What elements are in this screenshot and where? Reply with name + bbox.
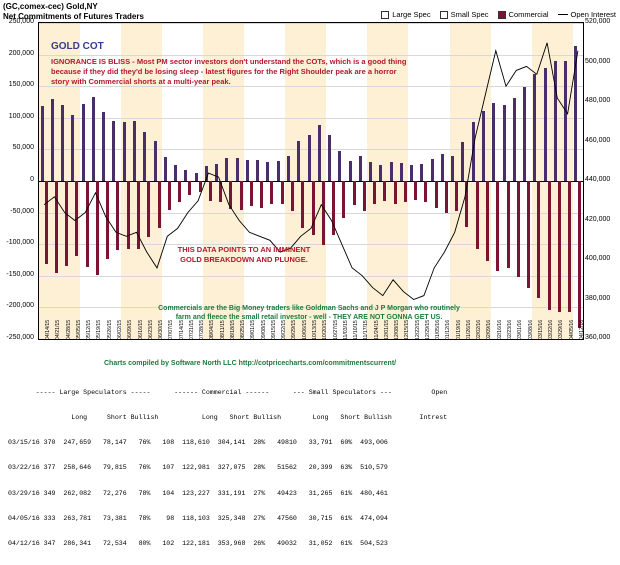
chart-plot-area: GOLD COT IGNORANCE IS BLISS - Most PM se…: [38, 22, 584, 340]
y2-tick-label: 380,000: [585, 295, 620, 302]
x-tick-label: 01/26/16: [466, 320, 472, 340]
y2-tick-label: 460,000: [585, 137, 620, 144]
y2-tick-label: 360,000: [585, 334, 620, 341]
x-tick-label: 06/02/15: [117, 320, 123, 340]
y-tick-label: -50,000: [0, 208, 34, 215]
table-group-header: ----- Large Speculators ----- ------ Com…: [8, 389, 447, 397]
legend-item-large-spec: Large Spec: [381, 10, 430, 19]
x-tick-label: 06/30/15: [158, 320, 164, 340]
legend-label-large-spec: Large Spec: [392, 10, 430, 19]
x-tick-label: 12/22/15: [415, 320, 421, 340]
x-tick-label: 01/12/16: [445, 320, 451, 340]
x-tick-label: 08/18/15: [230, 320, 236, 340]
table-row: 03/22/16 377 258,646 79,815 76% 107 122,…: [8, 464, 447, 472]
x-tick-label: 02/16/16: [497, 320, 503, 340]
x-tick-label: 03/29/16: [558, 320, 564, 340]
legend-swatch-small-spec: [440, 11, 448, 19]
x-tick-label: 10/20/15: [322, 320, 328, 340]
x-tick-label: 06/09/15: [127, 320, 133, 340]
x-tick-label: 12/08/15: [394, 320, 400, 340]
x-tick-label: 07/21/15: [189, 320, 195, 340]
legend-swatch-commercial: [498, 11, 506, 19]
y-tick-label: 200,000: [0, 50, 34, 57]
y-tick-label: 150,000: [0, 81, 34, 88]
x-tick-label: 07/07/15: [168, 320, 174, 340]
chart-page: (GC,comex-cec) Gold,NY Net Commitments o…: [0, 0, 620, 441]
x-tick-label: 05/05/15: [76, 320, 82, 340]
y-tick-label: 0: [0, 176, 34, 183]
annotation-ignorance-is-bliss: IGNORANCE IS BLISS - Most PM sector inve…: [51, 57, 571, 87]
y2-tick-label: 420,000: [585, 216, 620, 223]
x-tick-label: 09/08/15: [261, 320, 267, 340]
x-tick-label: 09/15/15: [271, 320, 277, 340]
x-tick-label: 10/06/15: [302, 320, 308, 340]
legend-item-commercial: Commercial: [498, 10, 549, 19]
x-tick-label: 02/02/16: [476, 320, 482, 340]
x-tick-label: 04/21/15: [55, 320, 61, 340]
x-tick-label: 10/27/15: [333, 320, 339, 340]
x-tick-label: 04/05/16: [569, 320, 575, 340]
legend-item-small-spec: Small Spec: [440, 10, 489, 19]
table-column-header: Long Short Bullish Long Short Bullish Lo…: [8, 414, 447, 422]
y-tick-label: -150,000: [0, 271, 34, 278]
legend-swatch-large-spec: [381, 11, 389, 19]
x-tick-label: 09/29/15: [291, 320, 297, 340]
y2-tick-label: 520,000: [585, 18, 620, 25]
annotation-breakdown: THIS DATA POINTS TO AN IMMINENT GOLD BRE…: [129, 245, 359, 265]
y-tick-label: 250,000: [0, 18, 34, 25]
chart-credit: Charts compiled by Software North LLC ht…: [104, 360, 396, 367]
x-tick-label: 11/24/15: [374, 320, 380, 340]
legend-label-commercial: Commercial: [509, 10, 549, 19]
legend-swatch-open-interest: [558, 14, 568, 15]
annotation-gold-cot: GOLD COT: [51, 41, 104, 52]
x-tick-label: 02/09/16: [486, 320, 492, 340]
x-tick-label: 04/28/15: [66, 320, 72, 340]
x-tick-label: 12/29/15: [425, 320, 431, 340]
x-tick-label: 07/28/15: [199, 320, 205, 340]
cot-data-table: ----- Large Speculators ----- ------ Com…: [8, 372, 447, 565]
x-tick-label: 08/11/15: [220, 320, 226, 340]
y2-tick-label: 500,000: [585, 58, 620, 65]
y-tick-label: -200,000: [0, 302, 34, 309]
x-tick-label: 03/22/16: [548, 320, 554, 340]
x-tick-label: 11/10/15: [353, 320, 359, 340]
x-tick-label: 03/15/16: [538, 320, 544, 340]
x-tick-label: 12/15/15: [404, 320, 410, 340]
y2-tick-label: 440,000: [585, 176, 620, 183]
x-tick-label: 08/04/15: [209, 320, 215, 340]
x-tick-label: 08/25/15: [240, 320, 246, 340]
x-tick-label: 03/08/16: [528, 320, 534, 340]
legend-label-small-spec: Small Spec: [451, 10, 489, 19]
x-tick-label: 05/26/15: [107, 320, 113, 340]
x-tick-label: 12/01/15: [384, 320, 390, 340]
x-tick-label: 05/19/15: [96, 320, 102, 340]
x-tick-label: 04/14/15: [45, 320, 51, 340]
x-tick-label: 06/16/15: [138, 320, 144, 340]
x-tick-label: 10/13/15: [312, 320, 318, 340]
table-row: 04/12/16 347 286,341 72,534 80% 102 122,…: [8, 540, 447, 548]
x-tick-label: 01/19/16: [456, 320, 462, 340]
y-tick-label: 100,000: [0, 113, 34, 120]
x-tick-label: 01/05/16: [435, 320, 441, 340]
x-tick-label: 03/01/16: [517, 320, 523, 340]
y2-tick-label: 400,000: [585, 255, 620, 262]
x-tick-label: 05/12/15: [86, 320, 92, 340]
chart-legend: Large Spec Small Spec Commercial Open In…: [381, 10, 616, 19]
x-tick-label: 07/14/15: [179, 320, 185, 340]
x-tick-label: 09/22/15: [281, 320, 287, 340]
table-row: 03/29/16 349 262,082 72,276 78% 104 123,…: [8, 490, 447, 498]
x-tick-label: 09/01/15: [250, 320, 256, 340]
y-tick-label: 50,000: [0, 144, 34, 151]
y2-tick-label: 480,000: [585, 97, 620, 104]
table-row: 04/05/16 333 263,781 73,381 78% 98 118,1…: [8, 515, 447, 523]
y-tick-label: -250,000: [0, 334, 34, 341]
x-tick-label: 04/12/16: [579, 320, 585, 340]
x-tick-label: 11/17/15: [363, 320, 369, 340]
x-tick-label: 11/03/15: [343, 320, 349, 340]
y-tick-label: -100,000: [0, 239, 34, 246]
x-tick-label: 06/23/15: [148, 320, 154, 340]
x-tick-label: 02/23/16: [507, 320, 513, 340]
